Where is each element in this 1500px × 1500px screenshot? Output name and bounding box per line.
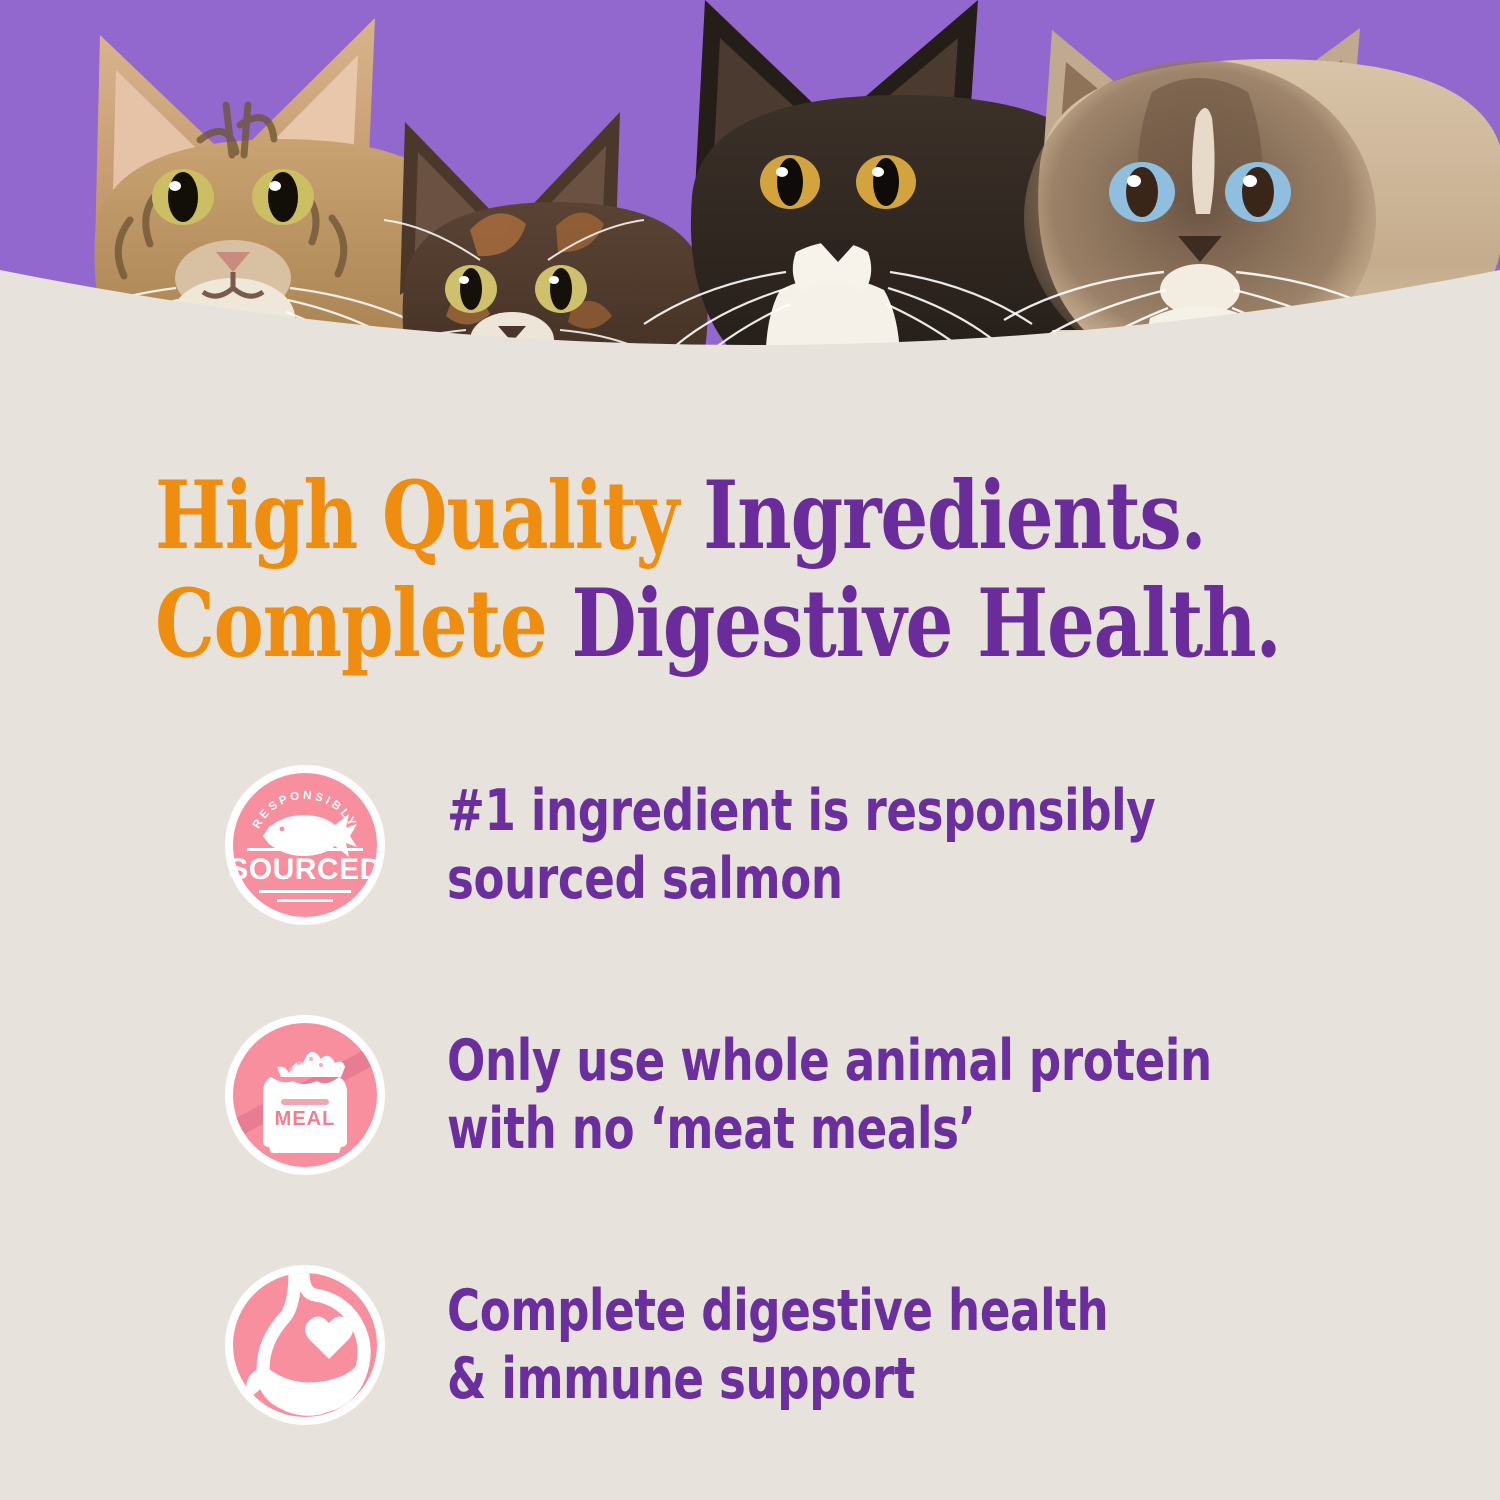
headline-line-1-purple: Ingredients. [703, 461, 1205, 571]
benefit-item-responsibly-sourced: RESPONSIBLY SOURCED #1 ingredient is res… [0, 755, 1500, 935]
benefit-text-responsibly-sourced: #1 ingredient is responsibly sourced sal… [447, 777, 1155, 913]
headline-line-2-orange: Complete [155, 569, 572, 679]
responsibly-sourced-fish-badge-icon: RESPONSIBLY SOURCED [225, 765, 385, 925]
benefit-item-no-meat-meals: MEAL Only use whole animal protein with … [0, 1005, 1500, 1185]
benefits-list: RESPONSIBLY SOURCED #1 ingredient is res… [0, 755, 1500, 1500]
benefit-text-digestive-health: Complete digestive health & immune suppo… [447, 1277, 1108, 1413]
hero-banner [0, 0, 1500, 430]
headline-line-1-orange: High Quality [155, 461, 703, 571]
headline-line-1: High Quality Ingredients. [155, 462, 1163, 570]
infographic-page: High Quality Ingredients. Complete Diges… [0, 0, 1500, 1500]
no-meat-meal-sack-badge-icon: MEAL [225, 1015, 385, 1175]
benefit-item-digestive-health: Complete digestive health & immune suppo… [0, 1255, 1500, 1435]
cat-ragdoll [1004, 28, 1500, 430]
headline-line-2: Complete Digestive Health. [155, 570, 1163, 678]
headline-line-2-purple: Digestive Health. [572, 569, 1281, 679]
benefit-text-no-meat-meals: Only use whole animal protein with no ‘m… [447, 1027, 1212, 1163]
cats-photo-group [0, 0, 1500, 430]
digestive-health-stomach-heart-badge-icon [225, 1265, 385, 1425]
badge-main-text: MEAL [275, 1108, 336, 1130]
page-title: High Quality Ingredients. Complete Diges… [155, 462, 1415, 678]
badge-main-text: SOURCED [228, 853, 382, 886]
